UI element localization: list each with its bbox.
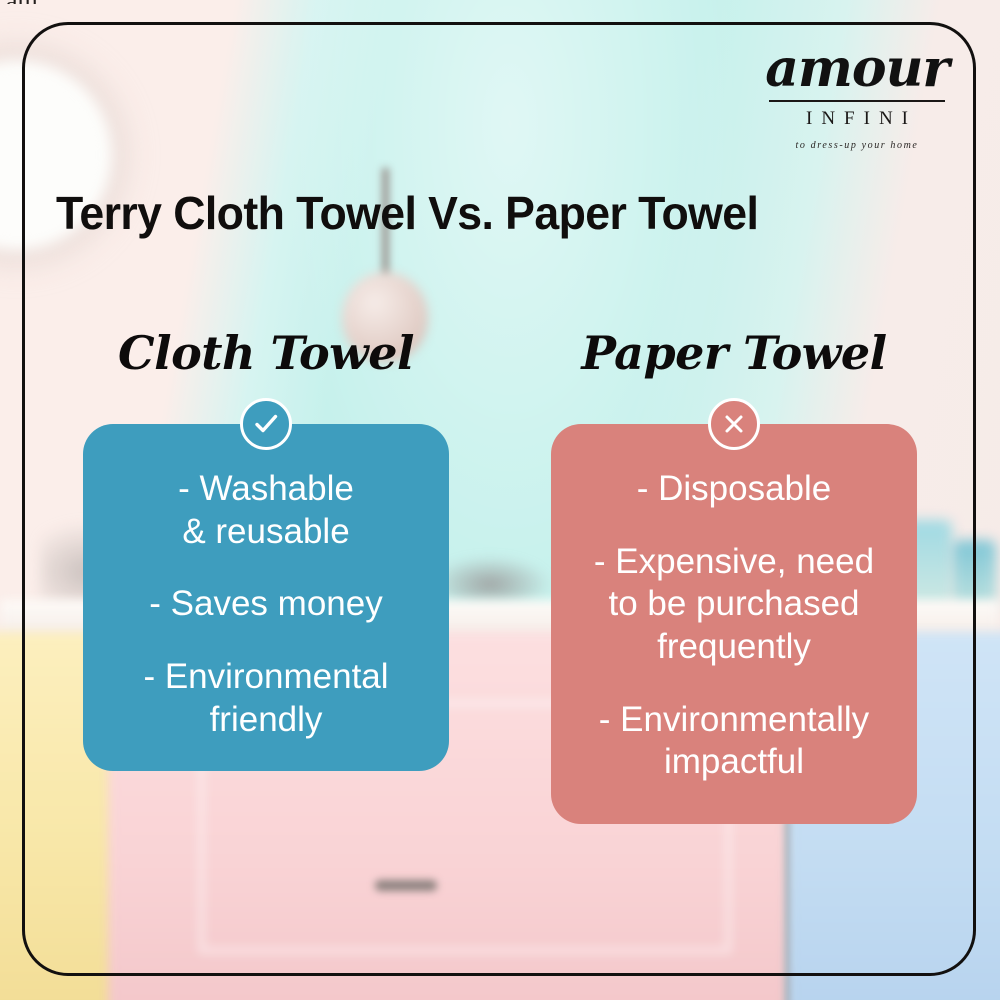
comparison-column-paper-towel: Paper Towel - Disposable - Expensive, ne… [524, 330, 944, 824]
background-jar-right [952, 540, 996, 608]
brand-logo: amour INFINI to dress-up your home [752, 44, 962, 151]
list-item: - Expensive, need to be purchased freque… [569, 541, 899, 669]
list-item: - Environmental friendly [101, 656, 431, 741]
brand-divider-rule [769, 100, 945, 102]
brand-tagline: to dress-up your home [752, 140, 962, 151]
pros-card: - Washable & reusable - Saves money - En… [83, 424, 449, 771]
column-title-cloth-towel: Cloth Towel [118, 330, 414, 376]
column-title-paper-towel: Paper Towel [581, 330, 886, 376]
brand-name: INFINI [752, 108, 962, 130]
list-item: - Disposable [569, 468, 899, 511]
cons-list: - Disposable - Expensive, need to be pur… [569, 468, 899, 784]
check-icon [240, 398, 292, 450]
background-drawer-handle [375, 880, 437, 891]
list-item: - Washable & reusable [101, 468, 431, 553]
list-item: - Saves money [101, 583, 431, 626]
infographic-poster: am amour INFINI to dress-up your home Te… [0, 0, 1000, 1000]
brand-script-wordmark: amour [752, 44, 962, 95]
cross-icon [708, 398, 760, 450]
comparison-column-cloth-towel: Cloth Towel - Washable & reusable - Save… [56, 330, 476, 771]
top-cropped-text: am [6, 0, 38, 4]
page-title: Terry Cloth Towel Vs. Paper Towel [56, 186, 758, 240]
list-item: - Environmentally impactful [569, 699, 899, 784]
pros-list: - Washable & reusable - Saves money - En… [101, 468, 431, 741]
cons-card: - Disposable - Expensive, need to be pur… [551, 424, 917, 824]
comparison-columns: Cloth Towel - Washable & reusable - Save… [56, 330, 944, 824]
